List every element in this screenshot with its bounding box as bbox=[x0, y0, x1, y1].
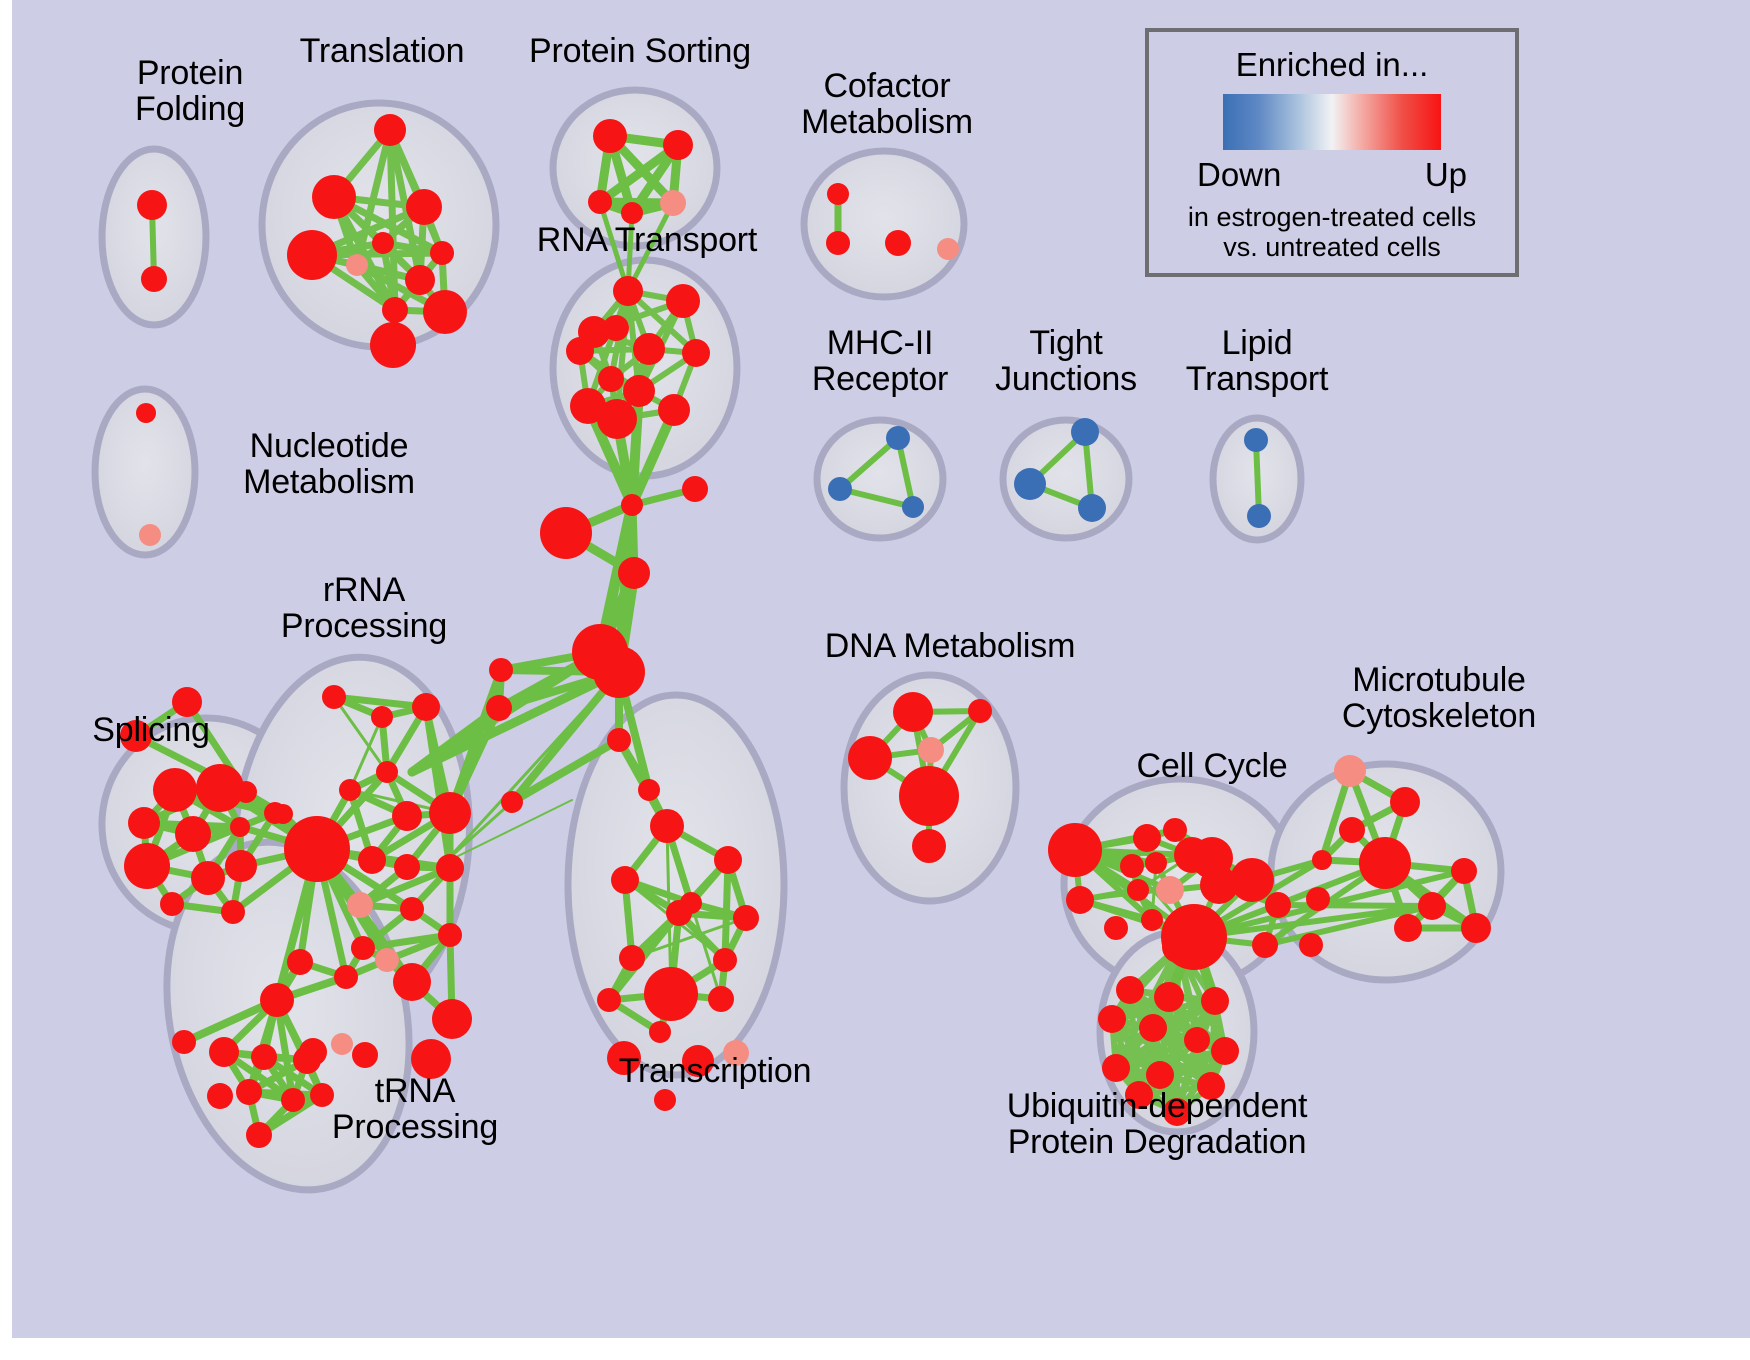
node bbox=[394, 854, 420, 880]
node bbox=[124, 843, 170, 889]
cluster-label-nucleotide-metabolism: Nucleotide Metabolism bbox=[202, 428, 456, 500]
node bbox=[1098, 1005, 1126, 1033]
node bbox=[968, 699, 992, 723]
node bbox=[1163, 818, 1187, 842]
node bbox=[682, 476, 708, 502]
node bbox=[382, 297, 408, 323]
node bbox=[486, 695, 512, 721]
node bbox=[1394, 914, 1422, 942]
hull-cofactor bbox=[804, 151, 964, 297]
node bbox=[246, 1122, 272, 1148]
node bbox=[207, 1083, 233, 1109]
node bbox=[372, 232, 394, 254]
node bbox=[1078, 494, 1106, 522]
node bbox=[405, 265, 435, 295]
cluster-label-rrna-processing: rRNA Processing bbox=[255, 572, 473, 644]
node bbox=[312, 175, 356, 219]
legend-subtitle-line2: vs. untreated cells bbox=[1223, 232, 1441, 262]
node bbox=[1141, 909, 1163, 931]
node bbox=[287, 949, 313, 975]
node bbox=[1154, 982, 1184, 1012]
cluster-label-mhc-ii-receptor: MHC-II Receptor bbox=[780, 325, 980, 397]
node bbox=[153, 768, 197, 812]
node bbox=[1312, 850, 1332, 870]
cluster-label-ubiquitin-degradation: Ubiquitin-dependent Protein Degradation bbox=[972, 1088, 1342, 1160]
network-diagram: Protein Folding Translation Protein Sort… bbox=[12, 0, 1750, 1338]
node bbox=[1048, 823, 1102, 877]
node bbox=[1390, 787, 1420, 817]
cluster-label-microtubule: Microtubule Cytoskeleton bbox=[1284, 662, 1594, 734]
legend-up-label: Up bbox=[1425, 156, 1467, 194]
node bbox=[392, 801, 422, 831]
node bbox=[1104, 916, 1128, 940]
node bbox=[160, 892, 184, 916]
node bbox=[654, 1089, 676, 1111]
cluster-label-cell-cycle: Cell Cycle bbox=[1097, 748, 1327, 784]
node bbox=[1265, 892, 1291, 918]
node bbox=[588, 190, 612, 214]
node bbox=[128, 807, 160, 839]
node bbox=[1334, 755, 1366, 787]
node bbox=[597, 399, 637, 439]
legend-subtitle-line1: in estrogen-treated cells bbox=[1188, 202, 1476, 232]
node bbox=[322, 685, 346, 709]
node bbox=[334, 965, 358, 989]
node bbox=[621, 494, 643, 516]
legend-endpoint-labels: Down Up bbox=[1197, 156, 1467, 194]
node bbox=[1156, 876, 1184, 904]
node bbox=[1299, 933, 1323, 957]
node bbox=[293, 1046, 321, 1074]
cluster-label-tight-junctions: Tight Junctions bbox=[966, 325, 1166, 397]
cluster-label-cofactor-metabolism: Cofactor Metabolism bbox=[774, 68, 1000, 140]
node bbox=[260, 983, 294, 1017]
node bbox=[375, 948, 399, 972]
node bbox=[1184, 1027, 1210, 1053]
node bbox=[1145, 852, 1167, 874]
node bbox=[489, 658, 513, 682]
node bbox=[1127, 879, 1149, 901]
node bbox=[658, 394, 690, 426]
node bbox=[1116, 976, 1144, 1004]
node bbox=[593, 119, 627, 153]
node bbox=[607, 728, 631, 752]
node bbox=[1252, 932, 1278, 958]
node bbox=[1071, 418, 1099, 446]
node bbox=[649, 1021, 671, 1043]
cluster-label-dna-metabolism: DNA Metabolism bbox=[802, 628, 1098, 664]
node bbox=[619, 945, 645, 971]
node bbox=[400, 897, 424, 921]
legend-color-gradient-bar bbox=[1223, 94, 1441, 150]
node bbox=[1066, 886, 1094, 914]
node bbox=[501, 791, 523, 813]
node bbox=[708, 986, 734, 1012]
node bbox=[1014, 468, 1046, 500]
node bbox=[682, 339, 710, 367]
node bbox=[1201, 987, 1229, 1015]
node bbox=[1247, 504, 1271, 528]
cluster-label-translation: Translation bbox=[267, 33, 497, 69]
node bbox=[376, 761, 398, 783]
node bbox=[1146, 1061, 1174, 1089]
node bbox=[432, 999, 472, 1039]
node bbox=[172, 1030, 196, 1054]
node bbox=[236, 1079, 262, 1105]
node bbox=[1339, 817, 1365, 843]
node bbox=[666, 900, 692, 926]
node bbox=[209, 1037, 239, 1067]
node bbox=[1230, 858, 1274, 902]
cluster-label-transcription: Transcription bbox=[570, 1053, 860, 1089]
node bbox=[423, 290, 467, 334]
node bbox=[136, 403, 156, 423]
node bbox=[412, 693, 440, 721]
node bbox=[638, 779, 660, 801]
node bbox=[1451, 858, 1477, 884]
node bbox=[374, 114, 406, 146]
node bbox=[597, 988, 621, 1012]
node bbox=[611, 866, 639, 894]
legend-down-label: Down bbox=[1197, 156, 1281, 194]
node bbox=[733, 905, 759, 931]
node bbox=[393, 963, 431, 1001]
node bbox=[141, 266, 167, 292]
node bbox=[1139, 1014, 1167, 1042]
node bbox=[287, 230, 337, 280]
node bbox=[593, 646, 645, 698]
node bbox=[650, 809, 684, 843]
cluster-label-protein-folding: Protein Folding bbox=[90, 55, 290, 127]
node bbox=[371, 706, 393, 728]
node bbox=[430, 241, 454, 265]
node bbox=[175, 816, 211, 852]
node bbox=[912, 829, 946, 863]
node bbox=[1162, 931, 1194, 963]
node bbox=[339, 779, 361, 801]
cluster-label-lipid-transport: Lipid Transport bbox=[1157, 325, 1357, 397]
node bbox=[429, 792, 471, 834]
node bbox=[139, 524, 161, 546]
node bbox=[352, 1042, 378, 1068]
node bbox=[191, 861, 225, 895]
node bbox=[196, 764, 244, 812]
node bbox=[281, 1088, 305, 1112]
node bbox=[1418, 892, 1446, 920]
node bbox=[827, 183, 849, 205]
node bbox=[937, 238, 959, 260]
node bbox=[230, 817, 250, 837]
node bbox=[284, 816, 350, 882]
node bbox=[644, 967, 698, 1021]
node bbox=[347, 892, 373, 918]
node bbox=[137, 190, 167, 220]
node bbox=[1359, 837, 1411, 889]
node bbox=[633, 333, 665, 365]
node bbox=[346, 254, 368, 276]
node bbox=[273, 804, 293, 824]
node bbox=[885, 230, 911, 256]
node bbox=[566, 337, 594, 365]
cluster-label-trna-processing: tRNA Processing bbox=[304, 1073, 526, 1145]
node bbox=[358, 846, 386, 874]
legend-title: Enriched in... bbox=[1236, 46, 1429, 84]
node bbox=[438, 923, 462, 947]
node bbox=[1102, 1054, 1130, 1082]
node bbox=[902, 496, 924, 518]
node bbox=[1244, 428, 1268, 452]
legend-panel: Enriched in... Down Up in estrogen-treat… bbox=[1145, 28, 1519, 277]
node bbox=[225, 850, 257, 882]
node bbox=[613, 276, 643, 306]
node bbox=[918, 737, 944, 763]
node bbox=[1461, 913, 1491, 943]
node bbox=[1120, 854, 1144, 878]
node bbox=[1211, 1037, 1239, 1065]
node bbox=[714, 846, 742, 874]
node bbox=[899, 766, 959, 826]
cluster-label-protein-sorting: Protein Sorting bbox=[490, 33, 790, 69]
node bbox=[893, 692, 933, 732]
node bbox=[713, 948, 737, 972]
node bbox=[598, 366, 624, 392]
node bbox=[436, 854, 464, 882]
node bbox=[666, 284, 700, 318]
node bbox=[828, 477, 852, 501]
figure-canvas: Protein Folding Translation Protein Sort… bbox=[0, 0, 1750, 1360]
node bbox=[351, 936, 375, 960]
node bbox=[331, 1033, 353, 1055]
node bbox=[370, 322, 416, 368]
node bbox=[886, 426, 910, 450]
cluster-label-rna-transport: RNA Transport bbox=[502, 222, 792, 258]
node bbox=[251, 1044, 277, 1070]
node bbox=[826, 231, 850, 255]
node bbox=[663, 130, 693, 160]
node bbox=[660, 190, 686, 216]
node bbox=[221, 900, 245, 924]
node bbox=[540, 507, 592, 559]
node bbox=[406, 189, 442, 225]
node bbox=[1133, 824, 1161, 852]
node bbox=[848, 736, 892, 780]
cluster-label-splicing: Splicing bbox=[56, 712, 246, 748]
node bbox=[1306, 887, 1330, 911]
node bbox=[603, 315, 629, 341]
node bbox=[618, 557, 650, 589]
